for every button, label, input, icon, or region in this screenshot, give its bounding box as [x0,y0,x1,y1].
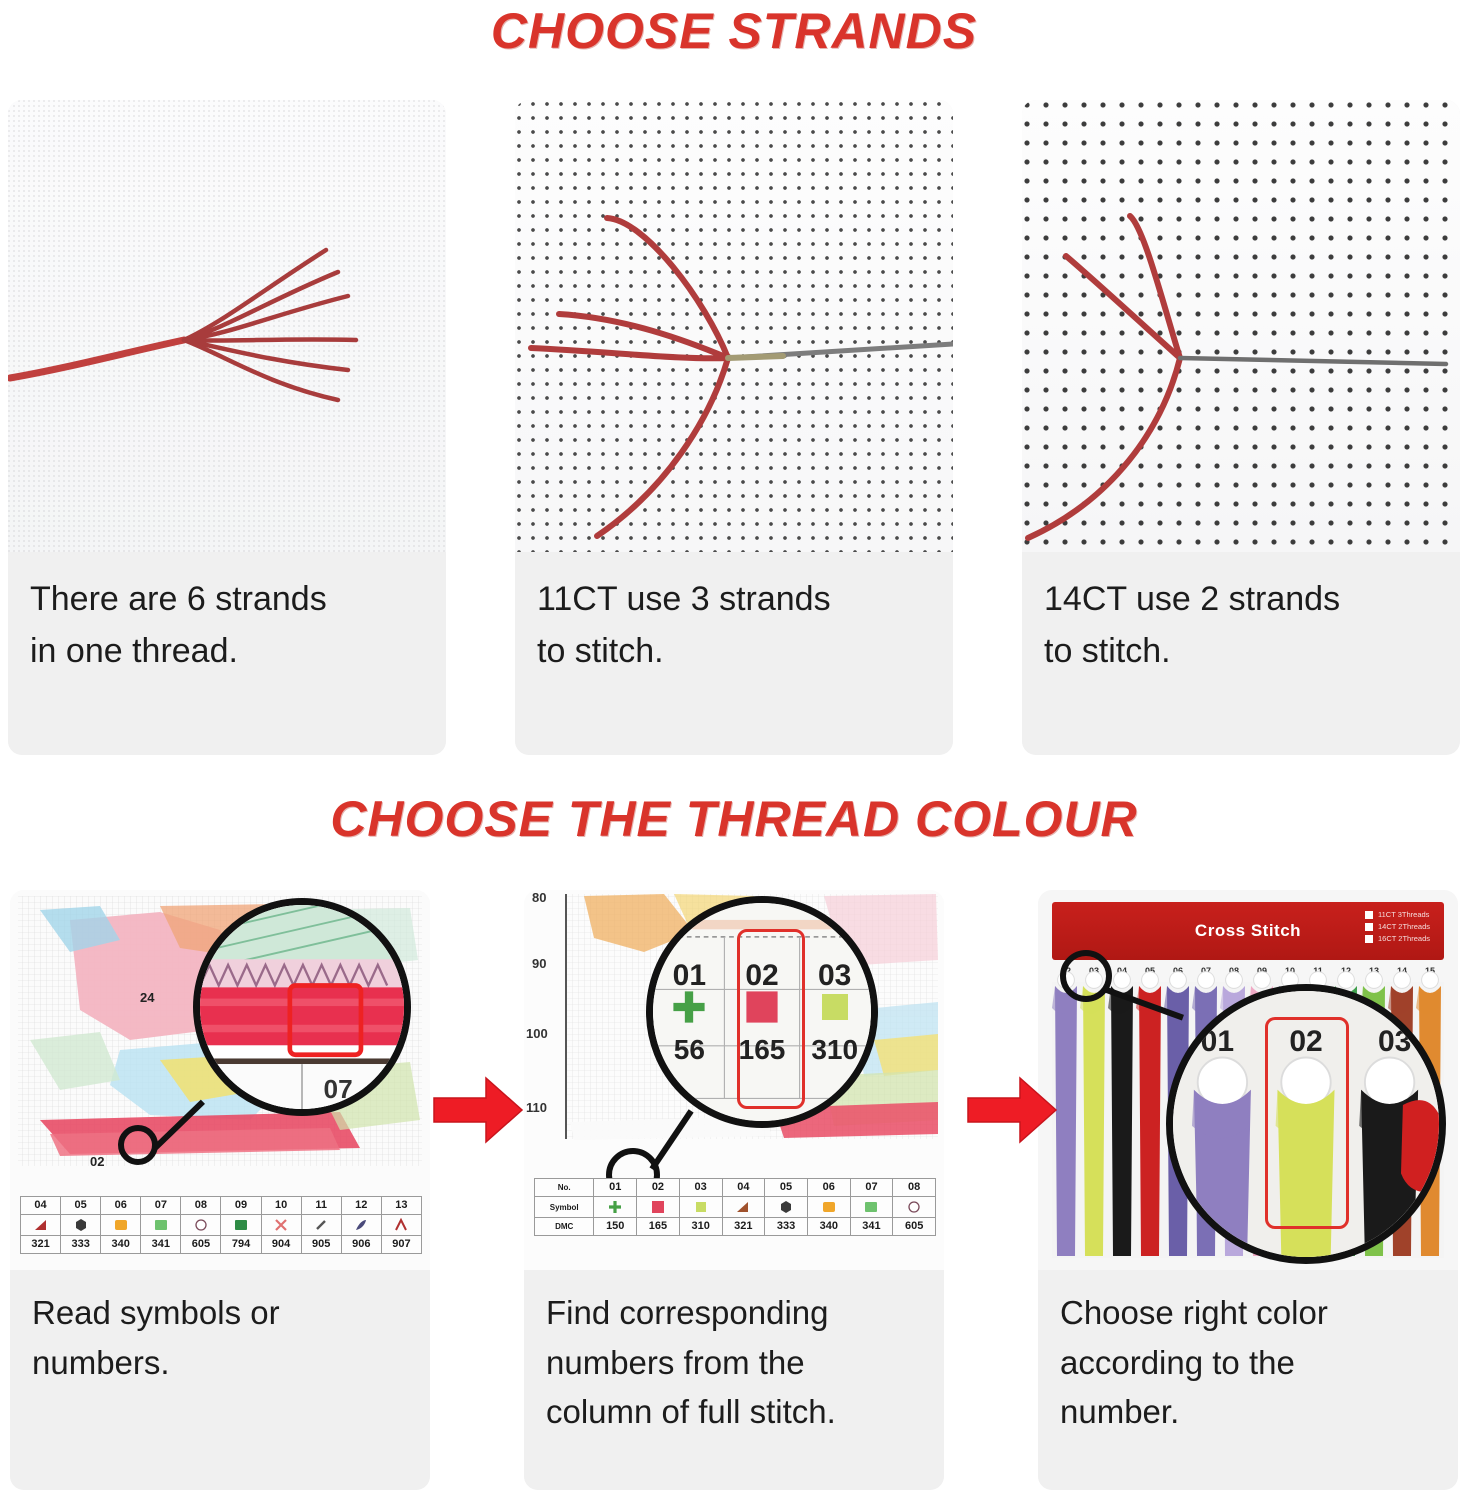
legend-row-label: No. [535,1179,593,1196]
legend-symbol-slash-icon [302,1214,341,1236]
pattern-legend-table: 0432105333063400734108605097941090411905… [20,1196,422,1254]
legend-number: 04 [21,1197,60,1214]
legend-column: 09794 [221,1197,261,1253]
legend-dmc-number: 340 [808,1218,850,1235]
legend-dmc-number: 333 [765,1218,807,1235]
card-six-strands: There are 6 strands in one thread. [8,100,446,755]
full-stitch-chart-image: 80 90 100 110 [524,890,944,1270]
caption-11ct: 11CT use 3 strands to stitch. [515,552,953,755]
legend-number: 06 [101,1197,140,1214]
legend-column: 02165 [637,1179,680,1235]
magnified-legend-column: 0156 [653,903,726,1121]
caption-line-3: column of full stitch. [546,1387,924,1437]
legend-column: 10904 [262,1197,302,1253]
card-find-numbers: 80 90 100 110 [524,890,944,1490]
legend-number: 07 [141,1197,180,1214]
legend-column: 08605 [181,1197,221,1253]
arrow-step-2-to-3-icon [966,1076,1058,1144]
magnified-thread-highlight-box [1265,1017,1349,1229]
cross-stitch-thread-card: Cross Stitch 11CT 3Threads14CT 2Threads1… [1038,890,1458,1270]
magnifier-circle-pattern: 07 [193,898,411,1116]
legend-number: 05 [765,1179,807,1196]
legend-column: 13907 [382,1197,421,1253]
legend-number: 11 [302,1197,341,1214]
card-11ct: 11CT use 3 strands to stitch. [515,100,953,755]
legend-symbol-dark-green-square-icon [221,1214,260,1236]
caption-line-1: Read symbols or [32,1288,410,1338]
caption-line-2: to stitch. [1044,626,1440,678]
magnified-legend-columns: 01560216503310 [653,903,871,1121]
legend-column: 05333 [61,1197,101,1253]
legend-number: 09 [221,1197,260,1214]
thread-six-strands-illustration [8,100,446,552]
legend-symbol-plus-icon [594,1196,636,1218]
legend-number: 12 [342,1197,381,1214]
legend-dmc-number: 605 [181,1236,220,1253]
photo-six-strands [8,100,446,552]
svg-text:24: 24 [140,990,155,1005]
legend-symbol-hexagon-icon [765,1196,807,1218]
magnified-highlight-box [737,929,805,1109]
legend-dmc-number: 150 [594,1218,636,1235]
legend-number: 08 [181,1197,220,1214]
magnified-symbol-plus-icon [669,986,711,1041]
page-title-choose-thread-colour: CHOOSE THE THREAD COLOUR [0,790,1468,848]
caption-line-1: Find corresponding [546,1288,924,1338]
photo-pattern-chart: 24 02 [10,890,430,1270]
caption-find-numbers: Find corresponding numbers from the colu… [524,1270,944,1490]
legend-column: 06340 [808,1179,851,1235]
legend-dmc-number: 165 [637,1218,679,1235]
legend-dmc-number: 341 [851,1218,893,1235]
caption-line-1: Choose right color [1060,1288,1438,1338]
caption-line-2: in one thread. [30,626,426,678]
legend-dmc-number: 905 [302,1236,341,1253]
axis-label-90: 90 [532,956,546,971]
magnified-pattern-view: 07 [200,905,404,1109]
legend-dmc-number: 321 [723,1218,765,1235]
thread-colour-card-row: 24 02 [0,890,1468,1490]
legend-number: 07 [851,1179,893,1196]
legend-column: 11905 [302,1197,342,1253]
magnified-thread-number: 03 [1378,1025,1411,1059]
magnified-thread-numbers: 010203 [1173,991,1439,1257]
caption-choose-colour: Choose right color according to the numb… [1038,1270,1458,1490]
caption-line-2: numbers from the [546,1338,924,1388]
magnified-thread-number-column: 03 [1350,991,1439,1257]
magnifier-circle-full-stitch: 01560216503310 [646,896,878,1128]
legend-number: 01 [594,1179,636,1196]
legend-symbol-circle-icon [181,1214,220,1236]
legend-symbol-orange-square-icon [101,1214,140,1236]
legend-row-labels: No.SymbolDMC [535,1179,594,1235]
legend-symbol-yellow-green-square-icon [680,1196,722,1218]
legend-dmc-number: 605 [893,1218,935,1235]
infographic-page: CHOOSE STRANDS [0,0,1468,1500]
legend-column: 04321 [723,1179,766,1235]
axis-label-110: 110 [526,1100,547,1115]
legend-symbol-orange-square-icon [808,1196,850,1218]
pattern-chart-image: 24 02 [10,890,430,1270]
legend-dmc-number: 321 [21,1236,60,1253]
legend-column: 05333 [765,1179,808,1235]
legend-symbol-triangle-icon [723,1196,765,1218]
legend-symbol-red-square-icon [637,1196,679,1218]
caption-read-symbols: Read symbols or numbers. [10,1270,430,1490]
caption-14ct: 14CT use 2 strands to stitch. [1022,552,1460,755]
legend-column: 07341 [851,1179,894,1235]
page-title-choose-strands: CHOOSE STRANDS [0,2,1468,60]
caption-six-strands: There are 6 strands in one thread. [8,552,446,755]
magnified-thread-number: 01 [1201,1025,1234,1059]
legend-column: 06340 [101,1197,141,1253]
legend-symbol-triangle-icon [21,1214,60,1236]
magnifier-circle-thread: 010203 [1166,984,1446,1264]
caption-line-1: There are 6 strands [30,574,426,626]
legend-number: 04 [723,1179,765,1196]
legend-dmc-number: 310 [680,1218,722,1235]
legend-symbol-caret-icon [382,1214,421,1236]
photo-full-stitch-chart: 80 90 100 110 [524,890,944,1270]
caption-line-2: numbers. [32,1338,410,1388]
legend-number: 08 [893,1179,935,1196]
legend-column: 12906 [342,1197,382,1253]
legend-dmc-number: 340 [101,1236,140,1253]
arrow-step-1-to-2-icon [432,1076,524,1144]
photo-thread-card: Cross Stitch 11CT 3Threads14CT 2Threads1… [1038,890,1458,1270]
legend-column: 01150 [594,1179,637,1235]
legend-dmc-number: 794 [221,1236,260,1253]
legend-dmc-number: 907 [382,1236,421,1253]
legend-dmc-number: 904 [262,1236,301,1253]
legend-symbol-green-square-icon [851,1196,893,1218]
caption-line-2: according to the [1060,1338,1438,1388]
legend-number: 06 [808,1179,850,1196]
legend-dmc-number: 341 [141,1236,180,1253]
card-14ct: 14CT use 2 strands to stitch. [1022,100,1460,755]
legend-number: 10 [262,1197,301,1214]
legend-column: 03310 [680,1179,723,1235]
legend-number: 05 [61,1197,100,1214]
full-stitch-legend-table: No.SymbolDMC0115002165033100432105333063… [534,1178,936,1236]
caption-line-1: 14CT use 2 strands [1044,574,1440,626]
legend-row-label: Symbol [535,1196,593,1218]
legend-symbol-leaf-icon [342,1214,381,1236]
legend-number: 03 [680,1179,722,1196]
caption-line-3: number. [1060,1387,1438,1437]
legend-column: 04321 [21,1197,61,1253]
needle-icon [1180,358,1446,364]
legend-number: 02 [637,1179,679,1196]
card-read-symbols: 24 02 [10,890,430,1490]
magnified-cell-number: 07 [324,1074,353,1104]
legend-symbol-hexagon-icon [61,1214,100,1236]
legend-symbol-green-square-icon [141,1214,180,1236]
needle-icon [728,344,953,358]
legend-column: 08605 [893,1179,935,1235]
photo-14ct-aida [1022,100,1460,552]
caption-line-1: 11CT use 3 strands [537,574,933,626]
magnified-thread-number-column: 01 [1173,991,1262,1257]
legend-symbol-circle-icon [893,1196,935,1218]
legend-dmc-number: 333 [61,1236,100,1253]
card-choose-colour: Cross Stitch 11CT 3Threads14CT 2Threads1… [1038,890,1458,1490]
legend-row-label: DMC [535,1218,593,1235]
thread-three-strands-illustration [515,100,953,552]
caption-line-2: to stitch. [537,626,933,678]
magnified-symbol-yellow-green-square-icon [814,986,856,1041]
legend-dmc-number: 906 [342,1236,381,1253]
legend-column: 07341 [141,1197,181,1253]
svg-text:02: 02 [90,1154,104,1169]
axis-label-100: 100 [526,1026,548,1041]
thread-two-strands-illustration [1022,100,1460,552]
magnifier-source-circle [1060,950,1112,1002]
legend-number: 13 [382,1197,421,1214]
legend-symbol-cross-icon [262,1214,301,1236]
photo-11ct-aida [515,100,953,552]
strands-card-row: There are 6 strands in one thread. [0,100,1468,755]
magnified-legend-column: 03310 [798,903,871,1121]
axis-label-80: 80 [532,890,546,905]
